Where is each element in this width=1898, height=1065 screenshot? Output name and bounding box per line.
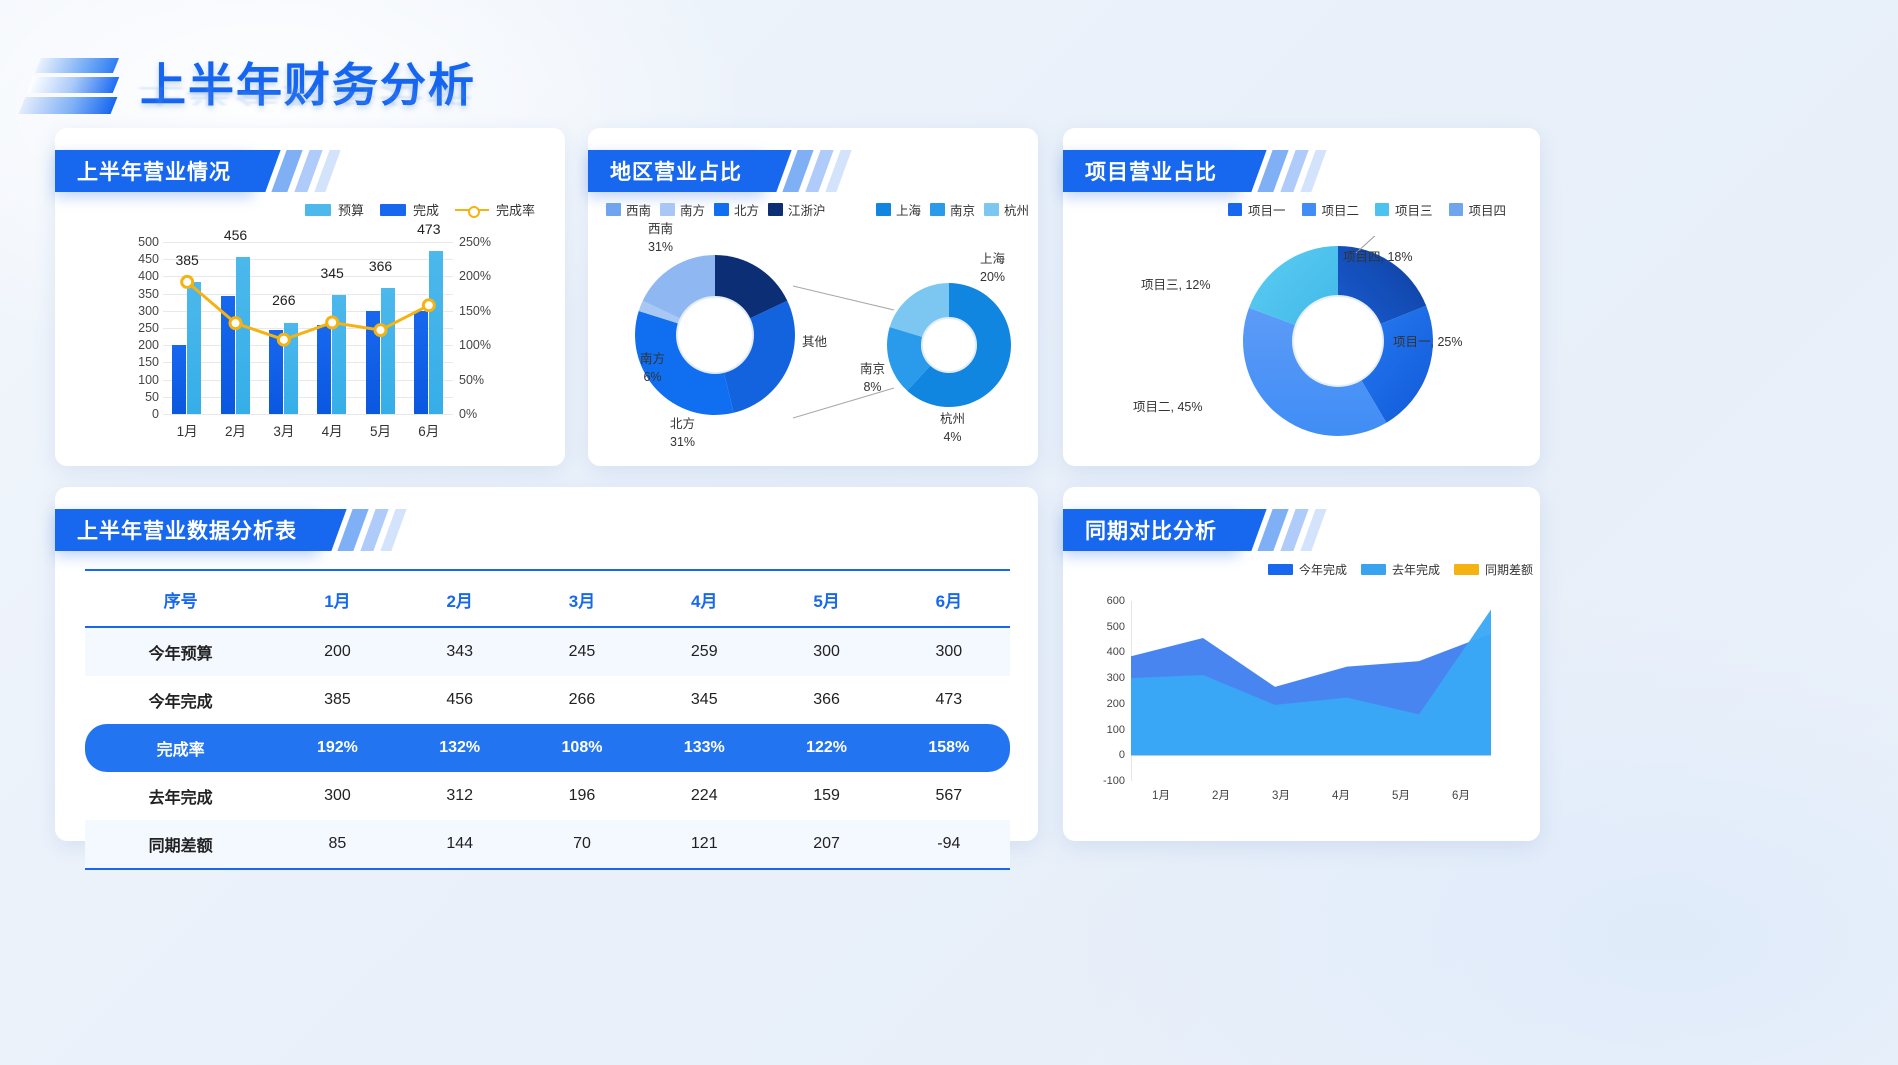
table-cell: -94 bbox=[888, 820, 1010, 869]
y-tick-label: 0 bbox=[152, 407, 159, 421]
bar-data-label: 473 bbox=[417, 221, 440, 237]
table-row-label: 去年完成 bbox=[85, 772, 276, 820]
combo-y-axis-left: 050100150200250300350400450500 bbox=[117, 234, 159, 422]
table-column-header: 5月 bbox=[765, 570, 887, 627]
annotation-project-1: 项目一, 25% bbox=[1393, 333, 1462, 351]
table-cell: 144 bbox=[399, 820, 521, 869]
table-cell: 132% bbox=[399, 724, 521, 772]
y-tick-label: 600 bbox=[1107, 595, 1125, 607]
panel-title-operating: 上半年营业情况 bbox=[55, 150, 333, 192]
gridline bbox=[163, 414, 453, 415]
page-title: 上半年财务分析 bbox=[140, 62, 476, 108]
pie-label-hangzhou: 杭州 4% bbox=[940, 410, 965, 446]
area-x-axis: 1月2月3月4月5月6月 bbox=[1131, 787, 1491, 803]
annotation-project-4: 项目四, 18% bbox=[1343, 248, 1412, 266]
analysis-table: 序号1月2月3月4月5月6月 今年预算200343245259300300今年完… bbox=[85, 569, 1010, 870]
y2-tick-label: 50% bbox=[459, 373, 484, 387]
y-tick-label: 400 bbox=[138, 269, 159, 283]
y-tick-label: 500 bbox=[138, 235, 159, 249]
y-tick-label: 150 bbox=[138, 355, 159, 369]
table-cell: 122% bbox=[765, 724, 887, 772]
table-cell: 158% bbox=[888, 724, 1010, 772]
panel-title-text: 项目营业占比 bbox=[1085, 156, 1217, 186]
table-column-header: 序号 bbox=[85, 570, 276, 627]
y-tick-label: -100 bbox=[1103, 775, 1125, 787]
y-tick-label: 400 bbox=[1107, 646, 1125, 658]
panel-title-region: 地区营业占比 bbox=[588, 150, 844, 192]
analysis-table-wrapper: 序号1月2月3月4月5月6月 今年预算200343245259300300今年完… bbox=[85, 569, 1010, 870]
table-cell: 300 bbox=[276, 772, 398, 820]
y2-tick-label: 100% bbox=[459, 338, 491, 352]
area-series-group bbox=[1131, 601, 1497, 783]
x-tick-label: 2月 bbox=[1191, 787, 1251, 803]
panel-title-text: 上半年营业情况 bbox=[77, 156, 231, 186]
table-column-header: 4月 bbox=[643, 570, 765, 627]
project-donut-legend: 项目一 项目二 项目三 项目四 bbox=[1228, 200, 1506, 219]
legend-item-shanghai[interactable]: 上海 bbox=[876, 200, 921, 219]
table-row-label: 今年完成 bbox=[85, 676, 276, 724]
panel-title-text: 地区营业占比 bbox=[610, 156, 742, 186]
x-tick-label: 5月 bbox=[1371, 787, 1431, 803]
legend-item-last-year[interactable]: 去年完成 bbox=[1361, 561, 1440, 578]
table-column-header: 3月 bbox=[521, 570, 643, 627]
y-tick-label: 350 bbox=[138, 287, 159, 301]
legend-item-completed[interactable]: 完成 bbox=[380, 200, 439, 219]
combo-y-axis-right: 0%50%100%150%200%250% bbox=[459, 234, 511, 422]
stacked-bars-logo-icon bbox=[22, 54, 122, 116]
table-cell: 343 bbox=[399, 627, 521, 676]
table-cell: 567 bbox=[888, 772, 1010, 820]
y2-tick-label: 250% bbox=[459, 235, 491, 249]
detail-donut-legend: 上海 南京 杭州 bbox=[876, 200, 1029, 219]
y-tick-label: 200 bbox=[1107, 698, 1125, 710]
table-cell: 473 bbox=[888, 676, 1010, 724]
table-cell: 245 bbox=[521, 627, 643, 676]
legend-swatch-last-year bbox=[1361, 564, 1386, 575]
table-cell: 300 bbox=[765, 627, 887, 676]
combo-x-axis: 1月2月3月4月5月6月 bbox=[163, 420, 453, 440]
y-tick-label: 300 bbox=[1107, 672, 1125, 684]
y-tick-label: 250 bbox=[138, 321, 159, 335]
x-tick-label: 4月 bbox=[308, 420, 356, 440]
area-chart-legend: 今年完成 去年完成 同期差额 bbox=[1268, 561, 1533, 578]
legend-swatch-project-4 bbox=[1449, 203, 1463, 216]
table-row: 同期差额8514470121207-94 bbox=[85, 820, 1010, 869]
table-cell: 385 bbox=[276, 676, 398, 724]
annotation-project-2: 项目二, 45% bbox=[1133, 398, 1202, 416]
operating-combo-chart: 预算 完成 完成率 050100150200250300350400450500… bbox=[55, 200, 565, 460]
legend-swatch-budget bbox=[305, 204, 331, 216]
legend-swatch-project-2 bbox=[1302, 203, 1316, 216]
region-share-donut bbox=[630, 250, 800, 420]
y2-tick-label: 200% bbox=[459, 269, 491, 283]
table-cell: 266 bbox=[521, 676, 643, 724]
legend-swatch-project-3 bbox=[1375, 203, 1389, 216]
area-y-axis: 6005004003002001000-100 bbox=[1081, 601, 1125, 781]
legend-item-project-3[interactable]: 项目三 bbox=[1375, 200, 1433, 219]
dashboard-header: 上半年财务分析 bbox=[0, 40, 476, 130]
legend-swatch-shanghai bbox=[876, 203, 891, 216]
legend-item-hangzhou[interactable]: 杭州 bbox=[984, 200, 1029, 219]
x-tick-label: 3月 bbox=[1251, 787, 1311, 803]
panel-title-text: 同期对比分析 bbox=[1085, 515, 1217, 545]
pie-label-nanjing: 南京 8% bbox=[860, 360, 885, 396]
legend-swatch-hangzhou bbox=[984, 203, 999, 216]
panel-project-share: 项目营业占比 项目一 项目二 项目三 项目四 bbox=[1063, 128, 1540, 466]
legend-swatch-this-year bbox=[1268, 564, 1293, 575]
legend-line-completion-rate bbox=[455, 204, 489, 216]
legend-swatch-project-1 bbox=[1228, 203, 1242, 216]
table-row: 今年预算200343245259300300 bbox=[85, 627, 1010, 676]
line-point[interactable] bbox=[278, 334, 289, 345]
legend-item-jiangzhehu[interactable]: 江浙沪 bbox=[768, 200, 826, 219]
y2-tick-label: 150% bbox=[459, 304, 491, 318]
completion-rate-line bbox=[163, 242, 453, 414]
table-cell: 366 bbox=[765, 676, 887, 724]
y-tick-label: 0 bbox=[1119, 749, 1125, 761]
legend-swatch-nanfang bbox=[660, 203, 675, 216]
legend-swatch-completed bbox=[380, 204, 406, 216]
table-cell: 70 bbox=[521, 820, 643, 869]
panel-region-share: 地区营业占比 西南 南方 北方 江浙沪 上海 南京 杭州 bbox=[588, 128, 1038, 466]
y-tick-label: 100 bbox=[1107, 724, 1125, 736]
panel-data-table: 上半年营业数据分析表 序号1月2月3月4月5月6月 今年预算2003432452… bbox=[55, 487, 1038, 841]
table-cell: 207 bbox=[765, 820, 887, 869]
line-point[interactable] bbox=[423, 300, 434, 311]
jiangzhehu-detail-donut bbox=[884, 280, 1014, 410]
pie-label-xinan: 西南 31% bbox=[648, 220, 673, 256]
table-header-row: 序号1月2月3月4月5月6月 bbox=[85, 570, 1010, 627]
legend-item-this-year[interactable]: 今年完成 bbox=[1268, 561, 1347, 578]
y-tick-label: 50 bbox=[145, 390, 159, 404]
x-tick-label: 5月 bbox=[356, 420, 404, 440]
table-cell: 259 bbox=[643, 627, 765, 676]
legend-item-project-4[interactable]: 项目四 bbox=[1449, 200, 1507, 219]
table-row: 今年完成385456266345366473 bbox=[85, 676, 1010, 724]
table-row: 去年完成300312196224159567 bbox=[85, 772, 1010, 820]
legend-item-nanjing[interactable]: 南京 bbox=[930, 200, 975, 219]
table-cell: 224 bbox=[643, 772, 765, 820]
legend-item-project-2[interactable]: 项目二 bbox=[1302, 200, 1360, 219]
legend-swatch-jiangzhehu bbox=[768, 203, 783, 216]
table-column-header: 2月 bbox=[399, 570, 521, 627]
table-cell: 312 bbox=[399, 772, 521, 820]
legend-item-xinan[interactable]: 西南 bbox=[606, 200, 651, 219]
table-row-label: 今年预算 bbox=[85, 627, 276, 676]
legend-item-nanfang[interactable]: 南方 bbox=[660, 200, 705, 219]
table-cell: 85 bbox=[276, 820, 398, 869]
pie-label-nanfang: 南方 6% bbox=[640, 350, 665, 386]
x-tick-label: 3月 bbox=[260, 420, 308, 440]
legend-item-completion-rate[interactable]: 完成率 bbox=[455, 200, 535, 219]
y-tick-label: 100 bbox=[138, 373, 159, 387]
table-cell: 159 bbox=[765, 772, 887, 820]
panel-operating-situation: 上半年营业情况 预算 完成 完成率 0501001502002503003504… bbox=[55, 128, 565, 466]
line-point[interactable] bbox=[230, 318, 241, 329]
combo-plot-area: 385456266345366473 bbox=[163, 242, 453, 414]
table-cell: 192% bbox=[276, 724, 398, 772]
pie-label-beifang: 北方 31% bbox=[670, 415, 695, 451]
legend-swatch-xinan bbox=[606, 203, 621, 216]
x-tick-label: 6月 bbox=[405, 420, 453, 440]
x-tick-label: 1月 bbox=[163, 420, 211, 440]
panel-yoy-comparison: 同期对比分析 今年完成 去年完成 同期差额 600500400300200100… bbox=[1063, 487, 1540, 841]
y-tick-label: 450 bbox=[138, 252, 159, 266]
table-column-header: 1月 bbox=[276, 570, 398, 627]
table-body: 今年预算200343245259300300今年完成38545626634536… bbox=[85, 627, 1010, 869]
table-cell: 133% bbox=[643, 724, 765, 772]
pie-label-shanghai: 上海 20% bbox=[980, 250, 1005, 286]
area-plot-area bbox=[1131, 601, 1491, 781]
legend-swatch-beifang bbox=[714, 203, 729, 216]
panel-title-table: 上半年营业数据分析表 bbox=[55, 509, 399, 551]
legend-swatch-yoy-diff bbox=[1454, 564, 1479, 575]
y2-tick-label: 0% bbox=[459, 407, 477, 421]
table-cell: 200 bbox=[276, 627, 398, 676]
y-tick-label: 300 bbox=[138, 304, 159, 318]
x-tick-label: 4月 bbox=[1311, 787, 1371, 803]
x-tick-label: 6月 bbox=[1431, 787, 1491, 803]
table-cell: 121 bbox=[643, 820, 765, 869]
table-cell: 300 bbox=[888, 627, 1010, 676]
panel-title-text: 上半年营业数据分析表 bbox=[77, 515, 297, 545]
table-row: 完成率192%132%108%133%122%158% bbox=[85, 724, 1010, 772]
x-tick-label: 1月 bbox=[1131, 787, 1191, 803]
panel-title-yoy: 同期对比分析 bbox=[1063, 509, 1319, 551]
y-tick-label: 200 bbox=[138, 338, 159, 352]
combo-chart-legend: 预算 完成 完成率 bbox=[305, 200, 535, 219]
table-column-header: 6月 bbox=[888, 570, 1010, 627]
line-point[interactable] bbox=[375, 325, 386, 336]
legend-item-budget[interactable]: 预算 bbox=[305, 200, 364, 219]
table-cell: 196 bbox=[521, 772, 643, 820]
table-cell: 108% bbox=[521, 724, 643, 772]
table-cell: 456 bbox=[399, 676, 521, 724]
bar-data-label: 456 bbox=[224, 227, 247, 243]
y-tick-label: 500 bbox=[1107, 621, 1125, 633]
line-point[interactable] bbox=[327, 317, 338, 328]
x-tick-label: 2月 bbox=[211, 420, 259, 440]
legend-item-yoy-diff[interactable]: 同期差额 bbox=[1454, 561, 1533, 578]
table-row-label: 完成率 bbox=[85, 724, 276, 772]
table-row-label: 同期差额 bbox=[85, 820, 276, 869]
legend-item-project-1[interactable]: 项目一 bbox=[1228, 200, 1286, 219]
panel-title-project: 项目营业占比 bbox=[1063, 150, 1319, 192]
annotation-project-3: 项目三, 12% bbox=[1141, 276, 1210, 294]
table-cell: 345 bbox=[643, 676, 765, 724]
yoy-area-chart: 今年完成 去年完成 同期差额 6005004003002001000-100 1… bbox=[1063, 561, 1540, 831]
legend-item-beifang[interactable]: 北方 bbox=[714, 200, 759, 219]
region-donut-legend: 西南 南方 北方 江浙沪 bbox=[606, 200, 826, 219]
legend-swatch-nanjing bbox=[930, 203, 945, 216]
line-point[interactable] bbox=[182, 276, 193, 287]
